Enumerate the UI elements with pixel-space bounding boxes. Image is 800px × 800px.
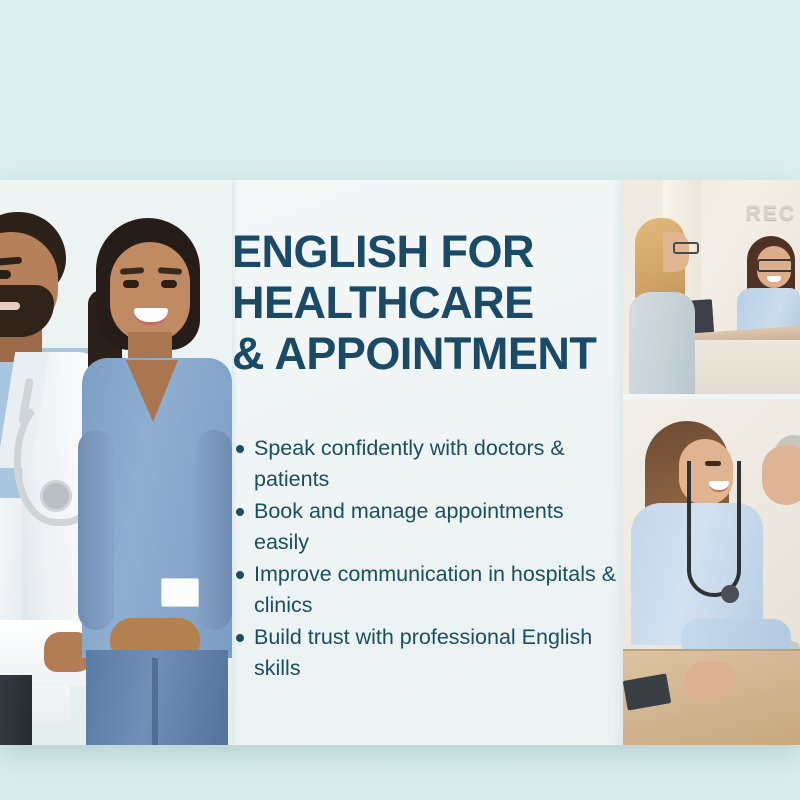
banner-text-column: English for Healthcare & Appointment Spe… — [222, 180, 622, 745]
reception-sign-text: REC — [746, 202, 796, 226]
exam-stethoscope-bell — [721, 585, 739, 603]
doctor-mouth — [0, 302, 20, 310]
benefits-list: Speak confidently with doctors & patient… — [230, 433, 622, 685]
reception-counter-body — [681, 340, 800, 394]
nurse-eye-left — [123, 280, 139, 288]
visitor-shirt — [629, 292, 695, 394]
list-item: Build trust with professional English sk… — [230, 622, 622, 684]
receptionist-smile — [767, 276, 781, 282]
exam-patient-head — [762, 445, 800, 505]
stethoscope-bell — [40, 480, 72, 512]
photo-text-seam-right — [613, 180, 623, 745]
headline-line-3: & Appointment — [232, 328, 622, 379]
nurse-face — [110, 242, 190, 342]
reception-photo: REC — [623, 180, 800, 394]
visitor-glasses-icon — [673, 242, 699, 254]
examination-photo — [623, 399, 800, 745]
list-item: Speak confidently with doctors & patient… — [230, 433, 622, 495]
exam-stethoscope-icon — [687, 461, 741, 597]
right-photo-strip: REC — [623, 180, 800, 745]
headline-line-1: English for — [232, 226, 622, 277]
staff-photo — [0, 180, 232, 745]
banner-card: English for Healthcare & Appointment Spe… — [0, 180, 800, 745]
poster-canvas: English for Healthcare & Appointment Spe… — [0, 0, 800, 800]
list-item: Book and manage appointments easily — [230, 496, 622, 558]
doctor-trousers — [0, 675, 32, 745]
list-item: Improve communication in hospitals & cli… — [230, 559, 622, 621]
exam-patient-hand — [684, 661, 736, 699]
nurse-eye-right — [161, 280, 177, 288]
doctor-eye — [0, 270, 11, 279]
nurse-trousers-seam — [152, 658, 158, 745]
receptionist-glasses-icon — [757, 259, 795, 272]
headline-line-2: Healthcare — [232, 277, 622, 328]
nurse-name-badge — [161, 578, 199, 607]
nurse-arm-left — [78, 430, 114, 630]
page-title: English for Healthcare & Appointment — [232, 226, 622, 379]
